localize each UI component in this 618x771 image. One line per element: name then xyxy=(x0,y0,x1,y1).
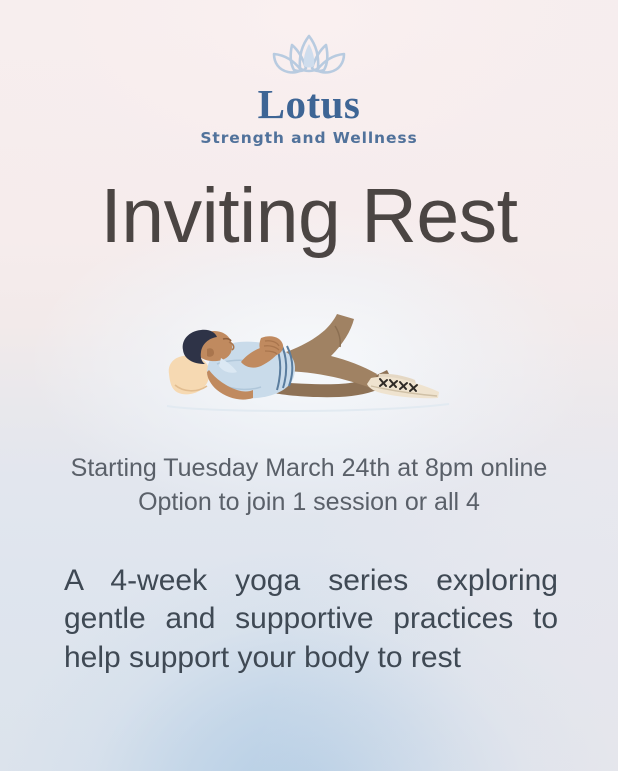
lotus-flower-icon xyxy=(261,30,357,82)
page-title: Inviting Rest xyxy=(0,178,618,255)
schedule-line-option: Option to join 1 session or all 4 xyxy=(0,486,618,520)
brand-logo-block: Lotus Strength and Wellness xyxy=(0,30,618,147)
poster-canvas: Lotus Strength and Wellness Inviting Res… xyxy=(0,0,618,771)
lotus-center-petal xyxy=(304,44,315,68)
brand-tagline: Strength and Wellness xyxy=(0,131,618,147)
poster-content: Lotus Strength and Wellness Inviting Res… xyxy=(0,0,618,771)
schedule-line-start: Starting Tuesday March 24th at 8pm onlin… xyxy=(0,452,618,486)
illustration-svg xyxy=(149,300,469,430)
mat-line xyxy=(167,404,449,411)
description-paragraph: A 4-week yoga series exploring gentle an… xyxy=(64,562,558,677)
schedule-block: Starting Tuesday March 24th at 8pm onlin… xyxy=(0,452,618,519)
brand-name: Lotus xyxy=(0,84,618,125)
person-lying-supine-knees-bent-illustration xyxy=(149,300,469,430)
